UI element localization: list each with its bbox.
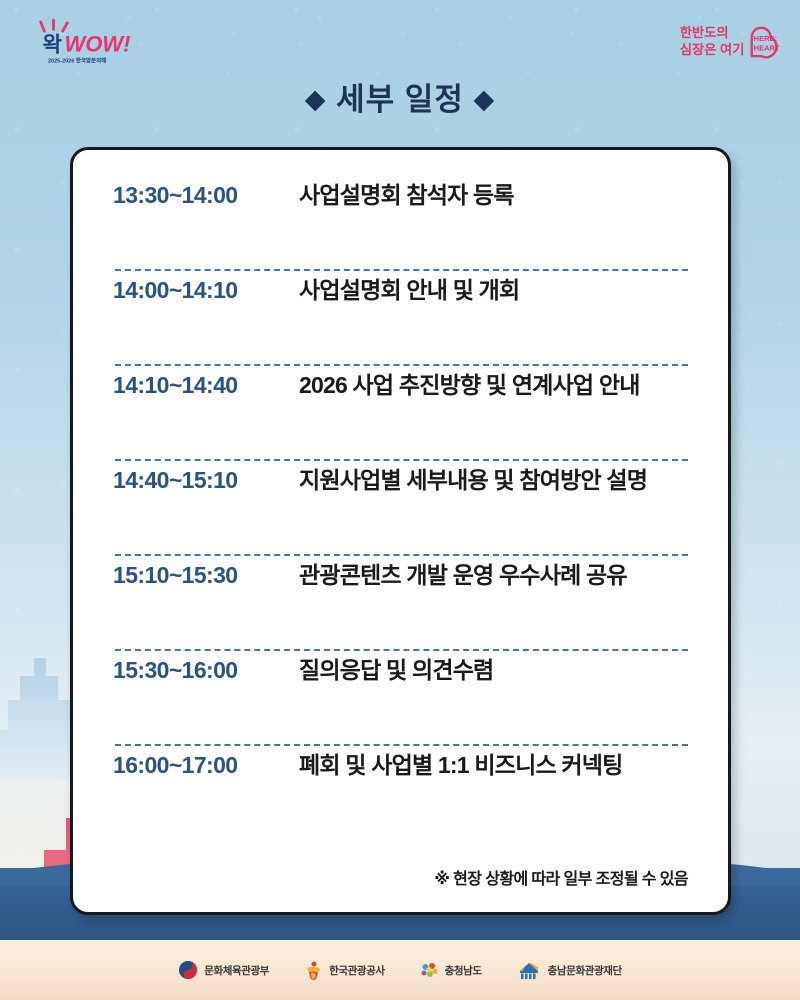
svg-text:WOW!: WOW! [65, 31, 131, 56]
schedule-row: 14:00~14:10 사업설명회 안내 및 개회 [113, 271, 690, 364]
org-cntf: 충남문화관광재단 [516, 960, 622, 980]
row-description: 2026 사업 추진방향 및 연계사업 안내 [299, 366, 690, 400]
chungnam-flower-icon [419, 960, 439, 980]
taegeuk-icon [178, 960, 198, 980]
row-description: 지원사업별 세부내용 및 참여방안 설명 [299, 461, 690, 495]
schedule-row: 14:40~15:10 지원사업별 세부내용 및 참여방안 설명 [113, 461, 690, 554]
here-heart-logo: 한반도의 심장은 여기 HERE: HEART [678, 18, 782, 64]
org-mcst: 문화체육관광부 [178, 960, 269, 980]
wow-tagline: 2025-2026 한국방문의해 [48, 56, 106, 64]
row-time: 15:10~15:30 [113, 562, 299, 589]
row-time: 14:10~14:40 [113, 372, 299, 399]
row-time: 14:00~14:10 [113, 277, 299, 304]
schedule-row: 13:30~14:00 사업설명회 참석자 등록 [113, 176, 690, 269]
row-time: 13:30~14:00 [113, 182, 299, 209]
org-label: 충남문화관광재단 [548, 963, 622, 978]
schedule-card: 13:30~14:00 사업설명회 참석자 등록 14:00~14:10 사업설… [70, 147, 731, 915]
row-description: 사업설명회 안내 및 개회 [299, 271, 690, 305]
page-title-text: 세부 일정 [336, 82, 464, 117]
row-description: 사업설명회 참석자 등록 [299, 176, 690, 210]
cntf-roof-icon [516, 960, 542, 980]
svg-text:심장은 여기: 심장은 여기 [680, 41, 744, 57]
schedule-row: 16:00~17:00 폐회 및 사업별 1:1 비즈니스 커넥팅 [113, 746, 690, 839]
org-label: 문화체육관광부 [204, 963, 269, 978]
row-time: 16:00~17:00 [113, 752, 299, 779]
row-description: 관광콘텐츠 개발 운영 우수사례 공유 [299, 556, 690, 590]
row-description: 질의응답 및 의견수렴 [299, 651, 690, 685]
diamond-left-icon: ◆ [305, 84, 327, 114]
row-description: 폐회 및 사업별 1:1 비즈니스 커넥팅 [299, 746, 690, 780]
org-chungnam: 충청남도 [419, 960, 482, 980]
row-time: 15:30~16:00 [113, 657, 299, 684]
schedule-list: 13:30~14:00 사업설명회 참석자 등록 14:00~14:10 사업설… [113, 176, 690, 839]
svg-text:왁: 왁 [43, 32, 62, 56]
row-time: 14:40~15:10 [113, 467, 299, 494]
diamond-right-icon: ◆ [473, 84, 495, 114]
schedule-row: 14:10~14:40 2026 사업 추진방향 및 연계사업 안내 [113, 366, 690, 459]
page-title: ◆ 세부 일정 ◆ [0, 74, 800, 119]
svg-text:한반도의: 한반도의 [680, 24, 729, 40]
poster-canvas: 문화체육관광부 한국관광공사 충청남도 [0, 0, 800, 1000]
org-kto: 한국관광공사 [303, 960, 385, 980]
schedule-row: 15:10~15:30 관광콘텐츠 개발 운영 우수사례 공유 [113, 556, 690, 649]
schedule-row: 15:30~16:00 질의응답 및 의견수렴 [113, 651, 690, 744]
sponsor-footer: 문화체육관광부 한국관광공사 충청남도 [0, 940, 800, 1000]
wow-brand-logo: 왁 WOW! 2025-2026 한국방문의해 [26, 18, 136, 70]
org-label: 한국관광공사 [329, 963, 385, 978]
svg-text:HEART: HEART [754, 43, 780, 52]
org-label: 충청남도 [445, 963, 482, 978]
svg-text:HERE:: HERE: [754, 34, 777, 43]
kto-figure-icon [303, 960, 323, 980]
schedule-note: ※ 현장 상황에 따라 일부 조정될 수 있음 [113, 865, 690, 889]
